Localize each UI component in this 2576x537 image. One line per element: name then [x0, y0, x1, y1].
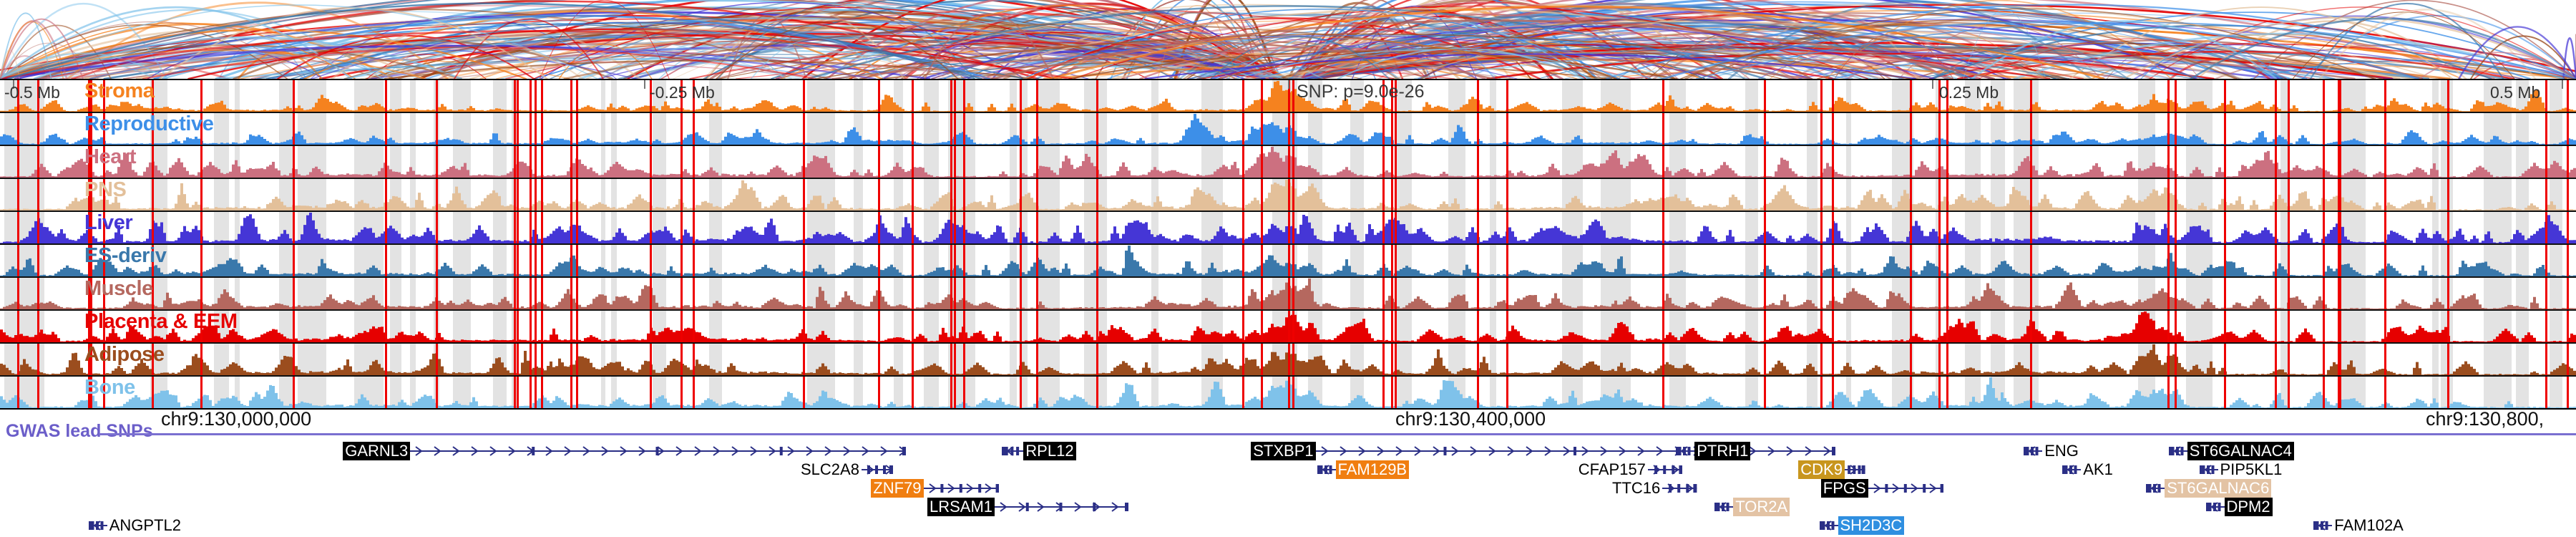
- gwas-snp-marker: [1261, 344, 1263, 375]
- gwas-snp-marker: [878, 179, 880, 211]
- gwas-snp-marker: [650, 146, 652, 178]
- gwas-snp-marker: [878, 80, 880, 112]
- gwas-lead-snps-label: GWAS lead SNPs: [6, 421, 153, 442]
- gwas-snp-marker: [803, 245, 805, 276]
- gwas-snp-marker: [2275, 146, 2277, 178]
- gwas-snp-marker: [514, 245, 516, 276]
- gwas-snp-marker: [1662, 278, 1664, 309]
- gwas-snp-marker: [1832, 377, 1834, 408]
- gwas-snp-marker: [950, 113, 952, 145]
- gwas-snp-marker: [954, 212, 956, 243]
- gwas-snp-marker: [2175, 311, 2177, 342]
- axis-label-left: -0.5 Mb: [4, 83, 60, 102]
- gwas-snp-marker: [535, 80, 537, 112]
- gene-fam102a[interactable]: FAM102A: [2313, 516, 2406, 534]
- gwas-snp-marker: [950, 80, 952, 112]
- coordinate-ruler: GWAS lead SNPs chr9:130,000,000 chr9:130…: [0, 408, 2576, 441]
- gwas-snp-marker: [1288, 278, 1290, 309]
- gwas-snp-marker: [17, 377, 19, 408]
- gwas-snp-marker: [803, 377, 805, 408]
- axis-label-mid-left: -0.25 Mb: [650, 83, 715, 102]
- gwas-snp-marker: [1820, 113, 1823, 145]
- gwas-snp-marker: [1910, 80, 1912, 112]
- gwas-snp-marker: [912, 344, 914, 375]
- gwas-snp-marker: [2224, 80, 2226, 112]
- gwas-snp-marker: [1477, 311, 1479, 342]
- gwas-snp-marker: [1382, 245, 1385, 276]
- gene-label: TTC16: [1610, 479, 1662, 498]
- gwas-snp-marker: [950, 179, 952, 211]
- gwas-snp-marker: [1477, 80, 1479, 112]
- gwas-snp-marker: [514, 80, 516, 112]
- gwas-snp-marker: [530, 80, 532, 112]
- gwas-snp-marker: [963, 311, 965, 342]
- gwas-snp-marker: [2167, 377, 2170, 408]
- gwas-snp-marker: [2447, 311, 2449, 342]
- gwas-snp-marker: [2447, 344, 2449, 375]
- gwas-snp-marker: [2224, 377, 2226, 408]
- gwas-snp-marker: [1832, 80, 1834, 112]
- gwas-snp-marker: [1477, 278, 1479, 309]
- gwas-snp-marker: [535, 146, 537, 178]
- gwas-snp-marker: [2323, 344, 2325, 375]
- gwas-snp-marker: [680, 212, 683, 243]
- gwas-snp-marker: [803, 311, 805, 342]
- gwas-snp-marker: [1391, 113, 1393, 145]
- gwas-snp-marker: [2288, 377, 2290, 408]
- gwas-snp-marker: [1242, 278, 1244, 309]
- gwas-snp-marker: [436, 278, 438, 309]
- gwas-snp-marker: [514, 344, 516, 375]
- gwas-snp-marker: [680, 146, 683, 178]
- gwas-snp-marker: [2224, 278, 2226, 309]
- gwas-snp-marker: [803, 179, 805, 211]
- gwas-snp-marker: [2167, 278, 2170, 309]
- gwas-snp-marker: [37, 113, 39, 145]
- gwas-snp-marker: [570, 212, 572, 243]
- gwas-snp-marker: [2323, 212, 2325, 243]
- gene-angptl2[interactable]: ANGPTL2: [89, 516, 183, 534]
- chromatin-loop-arc-panel: [0, 0, 2576, 79]
- gwas-snp-marker: [152, 179, 154, 211]
- gene-model: [2206, 499, 2225, 515]
- gwas-snp-marker: [1820, 212, 1823, 243]
- gwas-snp-marker: [2275, 179, 2277, 211]
- gwas-snp-marker: [1910, 377, 1912, 408]
- gwas-snp-marker: [2567, 146, 2569, 178]
- gwas-snp-marker: [2447, 245, 2449, 276]
- gwas-snp-marker: [200, 146, 203, 178]
- gwas-snp-marker: [1391, 278, 1393, 309]
- gwas-snp-marker: [1391, 311, 1393, 342]
- gwas-snp-marker: [385, 377, 387, 408]
- gwas-snp-marker: [912, 311, 914, 342]
- gwas-snp-marker: [541, 377, 543, 408]
- gene-label: AK1: [2081, 460, 2115, 479]
- track-stroma[interactable]: -0.5 Mb-0.25 Mb0.25 Mb0.5 MbSNP: p=9.0e-…: [0, 80, 2576, 113]
- gwas-snp-marker: [1261, 80, 1263, 112]
- gwas-snp-marker: [200, 80, 203, 112]
- gwas-snp-marker: [1288, 344, 1290, 375]
- gene-fpgs[interactable]: FPGS: [1821, 478, 1944, 497]
- gwas-snp-marker: [1020, 146, 1022, 178]
- gwas-snp-marker: [1477, 245, 1479, 276]
- gwas-snp-marker: [1292, 377, 1294, 408]
- gwas-snp-marker: [1096, 245, 1098, 276]
- gwas-snp-marker: [1036, 179, 1038, 211]
- gwas-snp-marker: [2167, 311, 2170, 342]
- gene-st6galnac4[interactable]: ST6GALNAC4: [2169, 441, 2294, 460]
- gwas-snp-marker: [576, 179, 578, 211]
- gwas-snp-marker: [1820, 377, 1823, 408]
- gwas-snp-marker: [650, 179, 652, 211]
- gwas-snp-marker: [2339, 146, 2341, 178]
- track-label-bone: Bone: [84, 377, 135, 398]
- gene-tor2a[interactable]: TOR2A: [1714, 497, 1790, 516]
- gene-model: [2062, 462, 2081, 478]
- gwas-snp-marker: [680, 344, 683, 375]
- gwas-snp-marker: [2323, 80, 2325, 112]
- gwas-snp-marker: [37, 212, 39, 243]
- gwas-snp-marker: [570, 113, 572, 145]
- axis-label-mid-right: 0.25 Mb: [1939, 83, 1999, 102]
- gwas-snp-marker: [576, 377, 578, 408]
- gwas-snp-marker: [1938, 113, 1941, 145]
- track-label-placenta-eem: Placenta & EEM: [84, 311, 238, 332]
- gwas-snp-marker: [535, 212, 537, 243]
- gwas-snp-marker: [2288, 146, 2290, 178]
- gwas-snp-marker: [1288, 113, 1290, 145]
- gene-label: ENG: [2042, 442, 2081, 460]
- gwas-snp-marker: [293, 377, 295, 408]
- gwas-snp-marker: [2323, 245, 2325, 276]
- gwas-snp-marker: [17, 113, 19, 145]
- gwas-snp-marker: [1820, 179, 1823, 211]
- gwas-snp-marker: [2288, 245, 2290, 276]
- gwas-snp-marker: [650, 344, 652, 375]
- gwas-snp-marker: [517, 278, 519, 309]
- gwas-lead-snps-line: [99, 433, 2576, 435]
- gene-label: ST6GALNAC4: [2187, 442, 2294, 460]
- gwas-snp-marker: [2175, 245, 2177, 276]
- gwas-snp-marker: [1764, 377, 1766, 408]
- gwas-snp-marker: [517, 80, 519, 112]
- gwas-snp-marker: [650, 113, 652, 145]
- gwas-snp-marker: [1292, 311, 1294, 342]
- gwas-snp-marker: [963, 377, 965, 408]
- track-muscle[interactable]: Muscle: [0, 278, 2576, 311]
- gwas-snp-marker: [950, 146, 952, 178]
- gwas-snp-marker: [878, 344, 880, 375]
- gwas-snp-marker: [1506, 212, 1508, 243]
- gwas-snp-marker: [514, 212, 516, 243]
- gwas-snp-marker: [1832, 344, 1834, 375]
- track-bone[interactable]: Bone: [0, 377, 2576, 410]
- gwas-snp-marker: [878, 212, 880, 243]
- gwas-snp-marker: [650, 212, 652, 243]
- gwas-snp-marker: [514, 113, 516, 145]
- gwas-snp-marker: [1662, 113, 1664, 145]
- gwas-snp-marker: [1764, 80, 1766, 112]
- gene-pip5kl1[interactable]: PIP5KL1: [2200, 460, 2285, 478]
- track-placenta-eem[interactable]: Placenta & EEM: [0, 311, 2576, 344]
- gwas-snp-marker: [535, 113, 537, 145]
- gene-model: [2200, 462, 2218, 478]
- gwas-snp-marker: [1395, 179, 1397, 211]
- gwas-snp-marker: [2339, 179, 2341, 211]
- gwas-snp-marker: [1832, 212, 1834, 243]
- gwas-snp-marker: [2275, 377, 2277, 408]
- gwas-snp-marker: [680, 179, 683, 211]
- gwas-snp-marker: [1910, 113, 1912, 145]
- gwas-snp-marker: [680, 311, 683, 342]
- gwas-snp-marker: [293, 146, 295, 178]
- gene-label: TOR2A: [1733, 498, 1790, 516]
- gwas-snp-marker: [950, 245, 952, 276]
- gwas-snp-marker: [17, 344, 19, 375]
- gene-cfap157[interactable]: CFAP157: [1576, 460, 1683, 478]
- gwas-snp-marker: [2384, 179, 2386, 211]
- gene-annotation-track: GARNL3RPL12STXBP1PTRH1ENGST6GALNAC4SLC2A…: [0, 441, 2576, 537]
- gene-model: [1662, 480, 1697, 496]
- gene-label: STXBP1: [1251, 442, 1315, 460]
- gene-fam129b[interactable]: FAM129B: [1317, 460, 1410, 478]
- gwas-snp-marker: [950, 278, 952, 309]
- gene-model: [1648, 462, 1682, 478]
- gene-model: [1002, 443, 1024, 459]
- gwas-snp-marker: [514, 377, 516, 408]
- gwas-snp-marker: [1832, 278, 1834, 309]
- gwas-snp-marker: [436, 113, 438, 145]
- gwas-snp-marker: [1910, 245, 1912, 276]
- gwas-snp-marker: [37, 146, 39, 178]
- gwas-snp-marker: [1288, 179, 1290, 211]
- gwas-snp-marker: [1242, 179, 1244, 211]
- gwas-snp-marker: [1938, 377, 1941, 408]
- gwas-snp-marker: [2567, 80, 2569, 112]
- gwas-snp-marker: [1820, 245, 1823, 276]
- gene-dpm2[interactable]: DPM2: [2206, 497, 2273, 516]
- gwas-snp-marker: [541, 179, 543, 211]
- gwas-snp-marker: [2275, 311, 2277, 342]
- gwas-snp-marker: [1506, 179, 1508, 211]
- gwas-snp-marker: [385, 278, 387, 309]
- gene-label: ST6GALNAC6: [2165, 479, 2271, 498]
- gwas-snp-marker: [2275, 278, 2277, 309]
- gwas-snp-marker: [1946, 311, 1948, 342]
- gwas-snp-marker: [576, 278, 578, 309]
- gwas-snp-marker: [2567, 245, 2569, 276]
- gene-ak1[interactable]: AK1: [2062, 460, 2115, 478]
- gene-label: CFAP157: [1576, 460, 1648, 479]
- gwas-snp-marker: [2175, 377, 2177, 408]
- gwas-snp-marker: [436, 212, 438, 243]
- gwas-snp-marker: [17, 146, 19, 178]
- gwas-snp-marker: [693, 113, 695, 145]
- gwas-snp-marker: [1395, 113, 1397, 145]
- gwas-snp-marker: [1764, 344, 1766, 375]
- track-reproductive[interactable]: Reproductive: [0, 113, 2576, 146]
- gwas-snp-marker: [152, 146, 154, 178]
- gwas-snp-marker: [693, 212, 695, 243]
- gwas-snp-marker: [570, 311, 572, 342]
- gene-label: ZNF79: [871, 479, 923, 498]
- gwas-snp-marker: [535, 179, 537, 211]
- gene-model: [995, 499, 1128, 515]
- gwas-snp-marker: [1261, 212, 1263, 243]
- gwas-snp-marker: [37, 179, 39, 211]
- track-heart[interactable]: Heart: [0, 146, 2576, 179]
- coordinate-middle: chr9:130,400,000: [1395, 408, 1546, 430]
- gwas-snp-marker: [293, 179, 295, 211]
- gene-model: [2024, 443, 2042, 459]
- gwas-snp-marker: [1382, 344, 1385, 375]
- gwas-snp-marker: [2030, 344, 2032, 375]
- gwas-snp-marker: [541, 212, 543, 243]
- gwas-snp-marker: [1938, 344, 1941, 375]
- gwas-snp-marker: [1242, 344, 1244, 375]
- gwas-snp-marker: [1382, 278, 1385, 309]
- gwas-snp-marker: [803, 146, 805, 178]
- gwas-snp-marker: [436, 377, 438, 408]
- gwas-snp-marker: [436, 344, 438, 375]
- gwas-snp-marker: [1395, 212, 1397, 243]
- track-es-deriv[interactable]: ES-deriv: [0, 245, 2576, 278]
- gene-slc2a8[interactable]: SLC2A8: [799, 460, 893, 478]
- gwas-snp-marker: [1096, 80, 1098, 112]
- gwas-snp-marker: [1292, 179, 1294, 211]
- gwas-snp-marker: [954, 377, 956, 408]
- gwas-snp-marker: [2167, 344, 2170, 375]
- gwas-snp-marker: [2288, 179, 2290, 211]
- gwas-snp-marker: [576, 344, 578, 375]
- gwas-snp-marker: [2275, 245, 2277, 276]
- gwas-snp-marker: [878, 113, 880, 145]
- gwas-snp-marker: [1764, 113, 1766, 145]
- gwas-snp-marker: [152, 212, 154, 243]
- gwas-snp-marker: [1020, 80, 1022, 112]
- gwas-snp-marker: [1096, 311, 1098, 342]
- gwas-snp-marker: [963, 179, 965, 211]
- gwas-snp-marker: [680, 278, 683, 309]
- gwas-snp-marker: [2567, 377, 2569, 408]
- gwas-snp-marker: [1938, 278, 1941, 309]
- gwas-snp-marker: [2175, 146, 2177, 178]
- gwas-snp-marker: [2224, 146, 2226, 178]
- gwas-snp-marker: [2567, 278, 2569, 309]
- gwas-snp-marker: [1764, 278, 1766, 309]
- gwas-snp-marker: [1242, 146, 1244, 178]
- gwas-snp-marker: [912, 377, 914, 408]
- gwas-snp-marker: [385, 212, 387, 243]
- gene-cdk9[interactable]: CDK9: [1798, 460, 1865, 478]
- track-label-stroma: Stroma: [84, 81, 155, 102]
- gene-znf79[interactable]: ZNF79: [871, 478, 999, 497]
- gwas-snp-marker: [517, 311, 519, 342]
- gwas-snp-marker: [530, 278, 532, 309]
- gwas-snp-marker: [1662, 146, 1664, 178]
- gwas-snp-marker: [2323, 146, 2325, 178]
- gene-garnl3[interactable]: GARNL3: [343, 441, 906, 460]
- gwas-snp-marker: [950, 212, 952, 243]
- gwas-snp-marker: [1292, 146, 1294, 178]
- gwas-snp-marker: [650, 278, 652, 309]
- gene-label: FPGS: [1821, 479, 1868, 498]
- gwas-snp-marker: [541, 80, 543, 112]
- gwas-snp-marker: [2224, 113, 2226, 145]
- gene-eng[interactable]: ENG: [2024, 441, 2081, 460]
- track-adipose[interactable]: Adipose: [0, 344, 2576, 377]
- gwas-snp-marker: [570, 179, 572, 211]
- gene-model: [2146, 480, 2165, 496]
- gwas-snp-marker: [1242, 113, 1244, 145]
- gwas-snp-marker: [1020, 212, 1022, 243]
- gwas-snp-marker: [2167, 179, 2170, 211]
- gwas-snp-marker: [2224, 179, 2226, 211]
- gwas-snp-marker: [1910, 344, 1912, 375]
- gwas-snp-marker: [1261, 113, 1263, 145]
- gwas-snp-marker: [2030, 311, 2032, 342]
- gwas-snp-marker: [530, 377, 532, 408]
- gwas-snp-marker: [2175, 278, 2177, 309]
- gwas-snp-marker: [37, 377, 39, 408]
- gene-st6galnac6[interactable]: ST6GALNAC6: [2146, 478, 2271, 497]
- gwas-snp-marker: [2567, 179, 2569, 211]
- gwas-snp-marker: [2275, 113, 2277, 145]
- gene-ttc16[interactable]: TTC16: [1610, 478, 1697, 497]
- gwas-snp-marker: [2447, 179, 2449, 211]
- gwas-snp-marker: [2030, 179, 2032, 211]
- gwas-snp-marker: [1292, 245, 1294, 276]
- gwas-snp-marker: [1096, 344, 1098, 375]
- gene-model: [89, 518, 107, 533]
- gwas-snp-marker: [803, 212, 805, 243]
- track-pns[interactable]: PNS: [0, 179, 2576, 212]
- gene-sh2d3c[interactable]: SH2D3C: [1820, 516, 1905, 534]
- gwas-snp-marker: [2167, 80, 2170, 112]
- gwas-snp-marker: [293, 278, 295, 309]
- gwas-snp-marker: [1946, 377, 1948, 408]
- gwas-snp-marker: [1764, 311, 1766, 342]
- gwas-snp-marker: [1391, 212, 1393, 243]
- gwas-snp-marker: [2545, 80, 2547, 112]
- track-liver[interactable]: Liver: [0, 212, 2576, 245]
- gwas-snp-marker: [1820, 311, 1823, 342]
- gwas-snp-marker: [2339, 377, 2341, 408]
- gwas-snp-marker: [1292, 278, 1294, 309]
- gene-lrsam1[interactable]: LRSAM1: [927, 497, 1128, 516]
- gene-ptrh1[interactable]: PTRH1: [1676, 441, 1750, 460]
- gene-label: SLC2A8: [799, 460, 862, 479]
- gwas-snp-marker: [1292, 344, 1294, 375]
- gwas-snp-marker: [514, 278, 516, 309]
- gwas-snp-marker: [2447, 377, 2449, 408]
- gwas-snp-marker: [1036, 344, 1038, 375]
- gwas-snp-marker: [570, 245, 572, 276]
- gene-rpl12[interactable]: RPL12: [1002, 441, 1076, 460]
- gwas-snp-marker: [2545, 278, 2547, 309]
- gwas-snp-marker: [37, 245, 39, 276]
- gwas-snp-marker: [1395, 344, 1397, 375]
- gwas-snp-marker: [2545, 212, 2547, 243]
- gwas-snp-marker: [2275, 80, 2277, 112]
- gwas-snp-marker: [436, 311, 438, 342]
- gwas-snp-marker: [963, 113, 965, 145]
- gwas-snp-marker: [1946, 212, 1948, 243]
- gwas-snp-marker: [2567, 344, 2569, 375]
- gwas-snp-marker: [1506, 245, 1508, 276]
- gwas-snp-marker: [1036, 113, 1038, 145]
